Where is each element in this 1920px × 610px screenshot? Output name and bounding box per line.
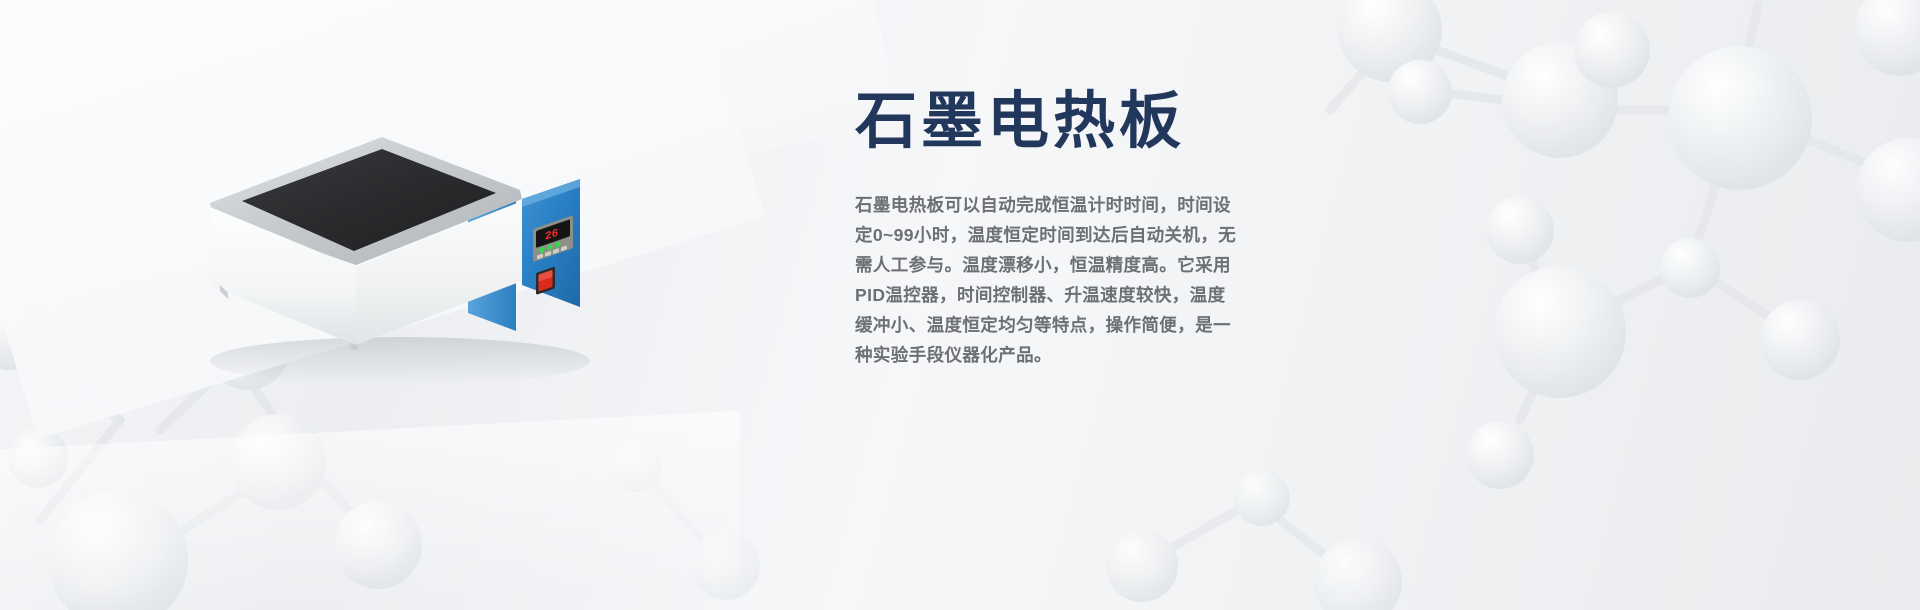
product-description: 石墨电热板可以自动完成恒温计时时间，时间设 定0~99小时，温度恒定时间到达后自… [855,190,1230,370]
background-floor-highlight [0,411,740,610]
description-line-4: PID温控器，时间控制器、升温速度较快，温度 [855,280,1230,310]
product-banner: 26 石墨电热板 石墨电热板可以自动完成恒温计时时间，时间设 定0~99 [0,0,1920,610]
graphite-hot-plate-illustration: 26 [150,95,620,435]
page-title: 石墨电热板 [855,88,1335,156]
description-line-1: 石墨电热板可以自动完成恒温计时时间，时间设 [855,190,1230,220]
banner-text-block: 石墨电热板 石墨电热板可以自动完成恒温计时时间，时间设 定0~99小时，温度恒定… [855,88,1335,370]
description-line-5: 缓冲小、温度恒定均匀等特点，操作简便，是一 [855,310,1230,340]
description-line-2: 定0~99小时，温度恒定时间到达后自动关机，无 [855,220,1230,250]
product-shadow [210,337,590,385]
description-line-3: 需人工参与。温度漂移小，恒温精度高。它采用 [855,250,1230,280]
description-line-6: 种实验手段仪器化产品。 [855,340,1230,370]
product-image: 26 [150,95,620,435]
